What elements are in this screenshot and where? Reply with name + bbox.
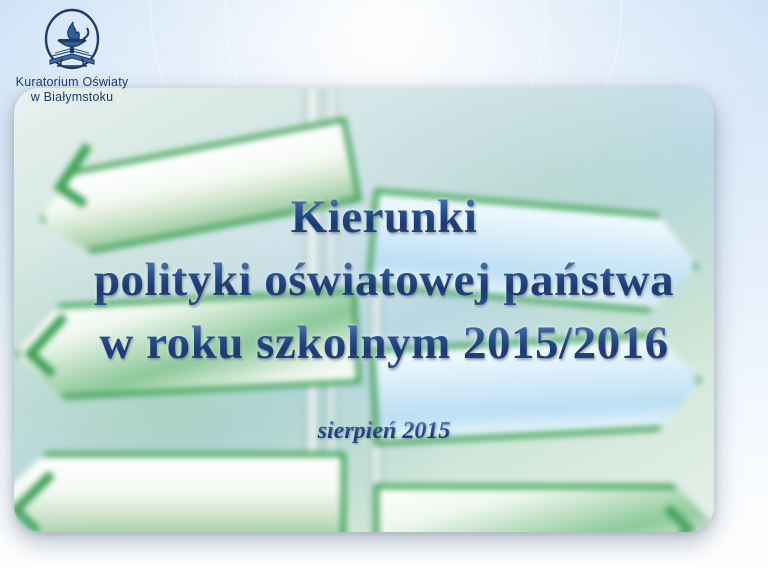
organization-logo: Kuratorium Oświaty w Białymstoku (6, 8, 138, 104)
presentation-slide: Kuratorium Oświaty w Białymstoku Kierunk… (0, 0, 768, 576)
lamp-of-knowledge-icon (29, 8, 115, 74)
logo-text-line2: w Białymstoku (6, 90, 138, 105)
background-photo-content (14, 88, 714, 532)
logo-text: Kuratorium Oświaty w Białymstoku (6, 75, 138, 104)
signpost-arrow-upper-right (366, 188, 703, 316)
signpost-arrow-middle-right (369, 331, 704, 446)
background-photo-panel (14, 88, 714, 532)
logo-text-line1: Kuratorium Oświaty (16, 75, 129, 89)
